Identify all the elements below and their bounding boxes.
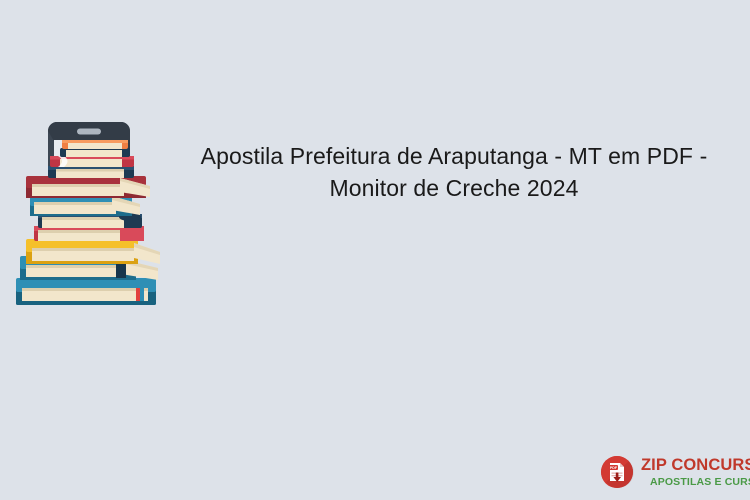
page-title: Apostila Prefeitura de Araputanga - MT e…	[168, 140, 740, 204]
book-yellow	[26, 239, 160, 264]
brand-name: ZIP CONCURSOS	[641, 457, 750, 474]
brand-logo[interactable]: PDF ZIP CONCURSOS APOSTILAS E CURSOS	[600, 452, 743, 492]
book-darkred-wide	[26, 176, 150, 198]
brand-tagline: APOSTILAS E CURSOS	[641, 477, 750, 488]
book-bottom-teal	[16, 278, 156, 305]
svg-text:PDF: PDF	[610, 466, 618, 470]
book-navy-small	[48, 166, 134, 178]
book-stack-illustration	[8, 118, 168, 310]
pdf-download-circle-icon: PDF	[600, 455, 634, 489]
book-navy-thin	[60, 148, 130, 157]
brand-wordmark: ZIP CONCURSOS APOSTILAS E CURSOS	[641, 457, 750, 487]
book-stack-svg	[8, 118, 168, 310]
book-red-small	[50, 156, 134, 167]
book-orange-top	[62, 140, 128, 149]
pdf-download-circle-svg: PDF	[600, 455, 634, 489]
book-crimson	[34, 226, 144, 241]
title-block: Apostila Prefeitura de Araputanga - MT e…	[168, 130, 740, 214]
promo-banner: Apostila Prefeitura de Araputanga - MT e…	[0, 0, 750, 500]
